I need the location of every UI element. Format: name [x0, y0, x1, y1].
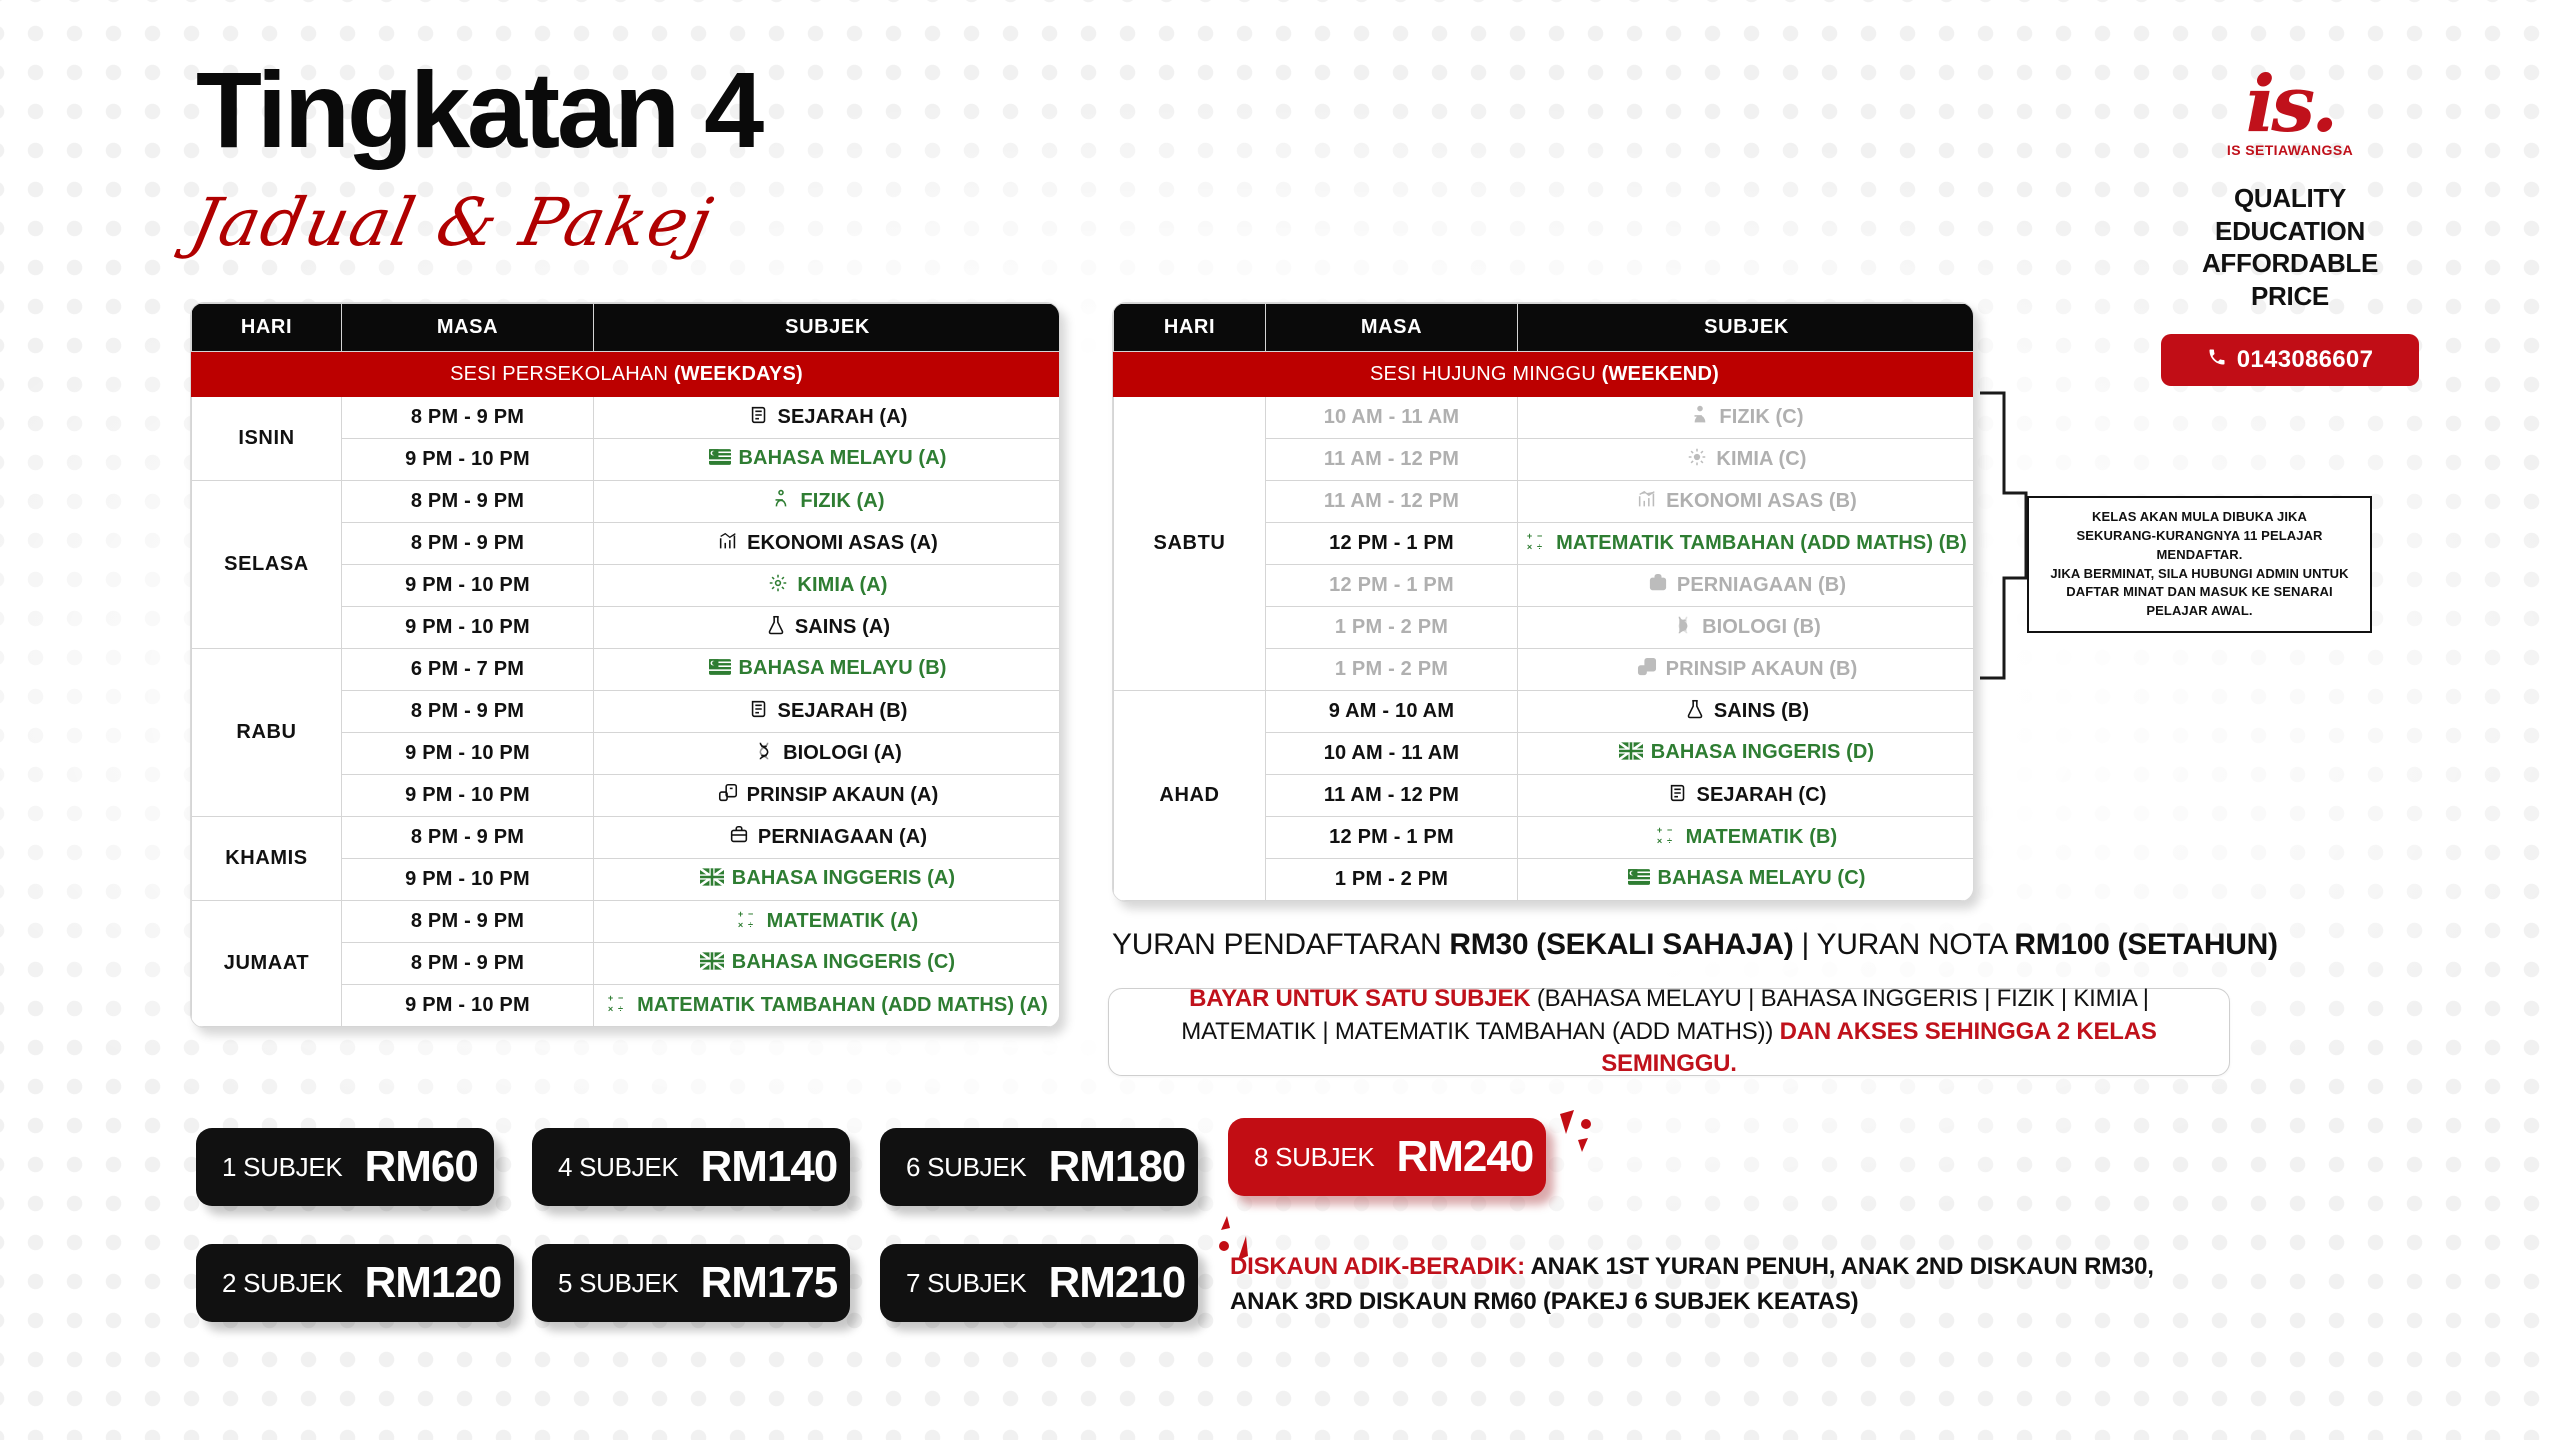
- svg-text:−: −: [748, 909, 753, 919]
- col-header-subjek: SUBJEK: [594, 304, 1061, 352]
- pill-subject-count: 1 SUBJEK: [222, 1152, 342, 1183]
- subject-cell: SEJARAH (C): [1518, 775, 1975, 817]
- subject-cell: SEJARAH (A): [594, 397, 1061, 439]
- fee-note-value: RM100 (SETAHUN): [2014, 928, 2277, 961]
- day-cell: ISNIN: [192, 397, 342, 481]
- table-header-row: HARI MASA SUBJEK: [1114, 304, 1975, 352]
- weekday-schedule-table: HARI MASA SUBJEK SESI PERSEKOLAHAN (WEEK…: [190, 302, 1060, 1028]
- subject-cell: BIOLOGI (A): [594, 733, 1061, 775]
- subject-cell: +−×÷MATEMATIK TAMBAHAN (ADD MATHS) (A): [594, 985, 1061, 1027]
- subject-label: BAHASA MELAYU (C): [1658, 867, 1866, 889]
- pill-price: RM140: [700, 1142, 837, 1192]
- price-pill[interactable]: 8 SUBJEKRM240: [1228, 1118, 1546, 1196]
- pill-subject-count: 8 SUBJEK: [1254, 1142, 1374, 1173]
- pill-price: RM240: [1396, 1132, 1533, 1182]
- access-red-lead: BAYAR UNTUK SATU SUBJEK: [1189, 985, 1530, 1012]
- subject-label: BAHASA INGGERIS (D): [1651, 741, 1874, 763]
- fee-reg-label: YURAN PENDAFTARAN: [1112, 928, 1449, 961]
- table-row: SELASA8 PM - 9 PMFIZIK (A): [192, 481, 1061, 523]
- subject-cell: BAHASA INGGERIS (A): [594, 859, 1061, 901]
- time-cell: 11 AM - 12 PM: [1266, 481, 1518, 523]
- subject-cell: EKONOMI ASAS (B): [1518, 481, 1975, 523]
- table-row: SABTU10 AM - 11 AMFIZIK (C): [1114, 397, 1975, 439]
- subject-label: SEJARAH (A): [778, 406, 908, 428]
- col-header-hari: HARI: [1114, 304, 1266, 352]
- subject-cell: +−×÷MATEMATIK (A): [594, 901, 1061, 943]
- scroll-icon: [748, 698, 770, 726]
- time-cell: 9 AM - 10 AM: [1266, 691, 1518, 733]
- discount-label: DISKAUN ADIK-BERADIK:: [1230, 1253, 1525, 1280]
- pill-subject-count: 4 SUBJEK: [558, 1152, 678, 1183]
- svg-text:÷: ÷: [618, 1004, 623, 1014]
- table-row: ISNIN8 PM - 9 PMSEJARAH (A): [192, 397, 1061, 439]
- subject-label: PERNIAGAAN (B): [1677, 574, 1846, 596]
- logo-subtitle: IS SETIAWANGSA: [2160, 142, 2420, 158]
- atom-icon: [1686, 446, 1708, 474]
- svg-text:+: +: [1527, 531, 1532, 541]
- day-cell: AHAD: [1114, 691, 1266, 901]
- time-cell: 8 PM - 9 PM: [342, 817, 594, 859]
- ledger-icon: [1636, 656, 1658, 684]
- subject-label: SEJARAH (C): [1697, 784, 1827, 806]
- svg-text:÷: ÷: [1537, 542, 1542, 552]
- subject-label: FIZIK (C): [1719, 406, 1803, 428]
- pill-subject-count: 2 SUBJEK: [222, 1268, 342, 1299]
- time-cell: 1 PM - 2 PM: [1266, 859, 1518, 901]
- math-symbols-icon: +−×÷: [737, 908, 759, 936]
- session-plain: SESI PERSEKOLAHAN: [450, 363, 674, 385]
- time-cell: 9 PM - 10 PM: [342, 985, 594, 1027]
- table-header-row: HARI MASA SUBJEK: [192, 304, 1061, 352]
- subject-cell: KIMIA (A): [594, 565, 1061, 607]
- phone-icon: [2207, 346, 2227, 374]
- subject-cell: KIMIA (C): [1518, 439, 1975, 481]
- session-banner-label: SESI PERSEKOLAHAN (WEEKDAYS): [192, 352, 1061, 397]
- subject-label: BAHASA MELAYU (B): [739, 657, 947, 679]
- uk-flag-icon: [700, 867, 724, 893]
- physics-icon: [1689, 404, 1711, 432]
- day-cell: SABTU: [1114, 397, 1266, 691]
- dna-icon: [1672, 614, 1694, 642]
- time-cell: 1 PM - 2 PM: [1266, 649, 1518, 691]
- svg-text:÷: ÷: [748, 920, 753, 930]
- pill-price: RM210: [1048, 1258, 1185, 1308]
- session-bold: (WEEKDAYS): [674, 363, 803, 385]
- discount-line-2: ANAK 3RD DISKAUN RM60 (PAKEJ 6 SUBJEK KE…: [1230, 1288, 1858, 1315]
- day-cell: KHAMIS: [192, 817, 342, 901]
- svg-text:÷: ÷: [1667, 836, 1672, 846]
- is-logo-icon: is.: [2160, 70, 2420, 140]
- weekend-schedule-table: HARI MASA SUBJEK SESI HUJUNG MINGGU (WEE…: [1112, 302, 1974, 902]
- svg-text:×: ×: [738, 920, 743, 930]
- note-line-4: DAFTAR MINAT DAN MASUK KE SENARAI PELAJA…: [2037, 583, 2362, 621]
- atom-icon: [767, 572, 789, 600]
- subject-label: KIMIA (A): [797, 574, 887, 596]
- svg-text:−: −: [618, 993, 623, 1003]
- time-cell: 12 PM - 1 PM: [1266, 523, 1518, 565]
- subject-cell: BAHASA MELAYU (C): [1518, 859, 1975, 901]
- malaysia-flag-icon: [709, 447, 731, 473]
- malaysia-flag-icon: [1628, 867, 1650, 893]
- time-cell: 8 PM - 9 PM: [342, 901, 594, 943]
- price-pill[interactable]: 6 SUBJEKRM180: [880, 1128, 1198, 1206]
- subject-cell: EKONOMI ASAS (A): [594, 523, 1061, 565]
- fee-separator: |: [1793, 928, 1816, 961]
- session-banner-label: SESI HUJUNG MINGGU (WEEKEND): [1114, 352, 1975, 397]
- price-pill[interactable]: 5 SUBJEKRM175: [532, 1244, 850, 1322]
- subject-cell: FIZIK (A): [594, 481, 1061, 523]
- subject-label: EKONOMI ASAS (B): [1666, 490, 1857, 512]
- day-cell: JUMAAT: [192, 901, 342, 1027]
- weekday-body: SESI PERSEKOLAHAN (WEEKDAYS)ISNIN8 PM - …: [192, 352, 1061, 1027]
- math-symbols-icon: +−×÷: [1656, 824, 1678, 852]
- subject-cell: BIOLOGI (B): [1518, 607, 1975, 649]
- subject-label: BAHASA INGGERIS (C): [732, 951, 955, 973]
- fee-reg-value: RM30 (SEKALI SAHAJA): [1449, 928, 1793, 961]
- subject-label: SAINS (B): [1714, 700, 1809, 722]
- poster-root: Tingkatan 4 Jadual & Pakej is. IS SETIAW…: [0, 0, 2560, 1440]
- tagline-line-2: AFFORDABLE PRICE: [2160, 247, 2420, 312]
- dna-icon: [753, 740, 775, 768]
- pill-price: RM120: [364, 1258, 501, 1308]
- time-cell: 9 PM - 10 PM: [342, 565, 594, 607]
- subject-label: PRINSIP AKAUN (A): [747, 784, 939, 806]
- time-cell: 8 PM - 9 PM: [342, 691, 594, 733]
- day-cell: SELASA: [192, 481, 342, 649]
- time-cell: 11 AM - 12 PM: [1266, 439, 1518, 481]
- access-policy-text: BAYAR UNTUK SATU SUBJEK (BAHASA MELAYU |…: [1109, 983, 2229, 1080]
- time-cell: 9 PM - 10 PM: [342, 859, 594, 901]
- registration-note-box: KELAS AKAN MULA DIBUKA JIKA SEKURANG-KUR…: [2027, 496, 2372, 633]
- malaysia-flag-icon: [709, 657, 731, 683]
- subject-label: SEJARAH (B): [778, 700, 908, 722]
- note-line-1: KELAS AKAN MULA DIBUKA JIKA: [2037, 508, 2362, 527]
- subject-cell: SEJARAH (B): [594, 691, 1061, 733]
- subject-cell: BAHASA INGGERIS (C): [594, 943, 1061, 985]
- session-banner-row: SESI HUJUNG MINGGU (WEEKEND): [1114, 352, 1975, 397]
- col-header-subjek: SUBJEK: [1518, 304, 1975, 352]
- table-row: JUMAAT8 PM - 9 PM+−×÷MATEMATIK (A): [192, 901, 1061, 943]
- ledger-icon: [717, 782, 739, 810]
- subject-cell: FIZIK (C): [1518, 397, 1975, 439]
- session-bold: (WEEKEND): [1602, 363, 1719, 385]
- flask-icon: [765, 614, 787, 642]
- chart-bar-icon: [717, 530, 739, 558]
- math-symbols-icon: +−×÷: [1526, 530, 1548, 558]
- svg-text:×: ×: [608, 1004, 613, 1014]
- time-cell: 6 PM - 7 PM: [342, 649, 594, 691]
- day-cell: RABU: [192, 649, 342, 817]
- subject-label: BAHASA INGGERIS (A): [732, 867, 955, 889]
- time-cell: 12 PM - 1 PM: [1266, 817, 1518, 859]
- table-row: AHAD9 AM - 10 AMSAINS (B): [1114, 691, 1975, 733]
- subject-label: MATEMATIK TAMBAHAN (ADD MATHS) (A): [637, 994, 1048, 1016]
- col-header-masa: MASA: [342, 304, 594, 352]
- phone-button[interactable]: 0143086607: [2161, 334, 2419, 386]
- pill-subject-count: 5 SUBJEK: [558, 1268, 678, 1299]
- scroll-icon: [748, 404, 770, 432]
- subject-cell: PRINSIP AKAUN (A): [594, 775, 1061, 817]
- note-line-2: SEKURANG-KURANGNYA 11 PELAJAR MENDAFTAR.: [2037, 527, 2362, 565]
- uk-flag-icon: [700, 951, 724, 977]
- sparkle-top-icon: [1526, 1110, 1596, 1200]
- subject-cell: SAINS (A): [594, 607, 1061, 649]
- weekend-body: SESI HUJUNG MINGGU (WEEKEND)SABTU10 AM -…: [1114, 352, 1975, 901]
- time-cell: 8 PM - 9 PM: [342, 943, 594, 985]
- scroll-icon: [1667, 782, 1689, 810]
- subject-label: MATEMATIK (B): [1686, 826, 1838, 848]
- subject-label: BIOLOGI (A): [783, 742, 902, 764]
- svg-text:×: ×: [1527, 542, 1532, 552]
- time-cell: 1 PM - 2 PM: [1266, 607, 1518, 649]
- pill-price: RM175: [700, 1258, 837, 1308]
- time-cell: 10 AM - 11 AM: [1266, 397, 1518, 439]
- subject-label: KIMIA (C): [1716, 448, 1806, 470]
- subject-label: PERNIAGAAN (A): [758, 826, 927, 848]
- subject-label: MATEMATIK TAMBAHAN (ADD MATHS) (B): [1556, 532, 1967, 554]
- flask-icon: [1684, 698, 1706, 726]
- subject-label: SAINS (A): [795, 616, 890, 638]
- subject-cell: +−×÷MATEMATIK (B): [1518, 817, 1975, 859]
- table-row: KHAMIS8 PM - 9 PMPERNIAGAAN (A): [192, 817, 1061, 859]
- subject-label: BIOLOGI (B): [1702, 616, 1821, 638]
- price-pill[interactable]: 4 SUBJEKRM140: [532, 1128, 850, 1206]
- brand-block: is. IS SETIAWANGSA QUALITY EDUCATION AFF…: [2160, 70, 2420, 386]
- time-cell: 9 PM - 10 PM: [342, 607, 594, 649]
- brand-tagline: QUALITY EDUCATION AFFORDABLE PRICE: [2160, 182, 2420, 312]
- subject-cell: BAHASA MELAYU (A): [594, 439, 1061, 481]
- table-row: RABU6 PM - 7 PMBAHASA MELAYU (B): [192, 649, 1061, 691]
- session-plain: SESI HUJUNG MINGGU: [1370, 363, 1602, 385]
- chart-bar-icon: [1636, 488, 1658, 516]
- discount-line-1: ANAK 1ST YURAN PENUH, ANAK 2ND DISKAUN R…: [1525, 1253, 2154, 1280]
- page-title: Tingkatan 4: [196, 56, 761, 164]
- access-policy-box: BAYAR UNTUK SATU SUBJEK (BAHASA MELAYU |…: [1108, 988, 2230, 1076]
- fee-note-label: YURAN NOTA: [1817, 928, 2015, 961]
- briefcase-icon: [1647, 572, 1669, 600]
- time-cell: 12 PM - 1 PM: [1266, 565, 1518, 607]
- subject-label: EKONOMI ASAS (A): [747, 532, 938, 554]
- svg-text:−: −: [1667, 825, 1672, 835]
- subject-cell: BAHASA INGGERIS (D): [1518, 733, 1975, 775]
- time-cell: 10 AM - 11 AM: [1266, 733, 1518, 775]
- uk-flag-icon: [1619, 741, 1643, 767]
- tagline-line-1: QUALITY EDUCATION: [2160, 182, 2420, 247]
- time-cell: 9 PM - 10 PM: [342, 439, 594, 481]
- fees-line: YURAN PENDAFTARAN RM30 (SEKALI SAHAJA) |…: [1112, 928, 2278, 962]
- price-pill[interactable]: 2 SUBJEKRM120: [196, 1244, 514, 1322]
- time-cell: 8 PM - 9 PM: [342, 481, 594, 523]
- col-header-masa: MASA: [1266, 304, 1518, 352]
- time-cell: 9 PM - 10 PM: [342, 733, 594, 775]
- subject-label: FIZIK (A): [800, 490, 884, 512]
- col-header-hari: HARI: [192, 304, 342, 352]
- subject-cell: +−×÷MATEMATIK TAMBAHAN (ADD MATHS) (B): [1518, 523, 1975, 565]
- math-symbols-icon: +−×÷: [607, 992, 629, 1020]
- svg-text:×: ×: [1657, 836, 1662, 846]
- subject-cell: SAINS (B): [1518, 691, 1975, 733]
- pill-subject-count: 6 SUBJEK: [906, 1152, 1026, 1183]
- subject-cell: PRINSIP AKAUN (B): [1518, 649, 1975, 691]
- time-cell: 9 PM - 10 PM: [342, 775, 594, 817]
- sibling-discount-text: DISKAUN ADIK-BERADIK: ANAK 1ST YURAN PEN…: [1230, 1250, 2230, 1320]
- subject-cell: BAHASA MELAYU (B): [594, 649, 1061, 691]
- briefcase-icon: [728, 824, 750, 852]
- time-cell: 8 PM - 9 PM: [342, 523, 594, 565]
- time-cell: 8 PM - 9 PM: [342, 397, 594, 439]
- subject-label: PRINSIP AKAUN (B): [1666, 658, 1858, 680]
- pill-subject-count: 7 SUBJEK: [906, 1268, 1026, 1299]
- time-cell: 11 AM - 12 PM: [1266, 775, 1518, 817]
- physics-icon: [770, 488, 792, 516]
- price-pill[interactable]: 7 SUBJEKRM210: [880, 1244, 1198, 1322]
- subject-label: MATEMATIK (A): [767, 910, 919, 932]
- session-banner-row: SESI PERSEKOLAHAN (WEEKDAYS): [192, 352, 1061, 397]
- subject-cell: PERNIAGAAN (A): [594, 817, 1061, 859]
- subject-cell: PERNIAGAAN (B): [1518, 565, 1975, 607]
- phone-number: 0143086607: [2237, 346, 2373, 374]
- svg-text:+: +: [738, 909, 743, 919]
- svg-text:−: −: [1537, 531, 1542, 541]
- pill-price: RM60: [364, 1142, 477, 1192]
- svg-text:+: +: [608, 993, 613, 1003]
- svg-text:+: +: [1657, 825, 1662, 835]
- pill-price: RM180: [1048, 1142, 1185, 1192]
- page-subtitle: Jadual & Pakej: [185, 190, 719, 256]
- note-line-3: JIKA BERMINAT, SILA HUBUNGI ADMIN UNTUK: [2037, 565, 2362, 584]
- subject-label: BAHASA MELAYU (A): [739, 447, 947, 469]
- price-pill[interactable]: 1 SUBJEKRM60: [196, 1128, 494, 1206]
